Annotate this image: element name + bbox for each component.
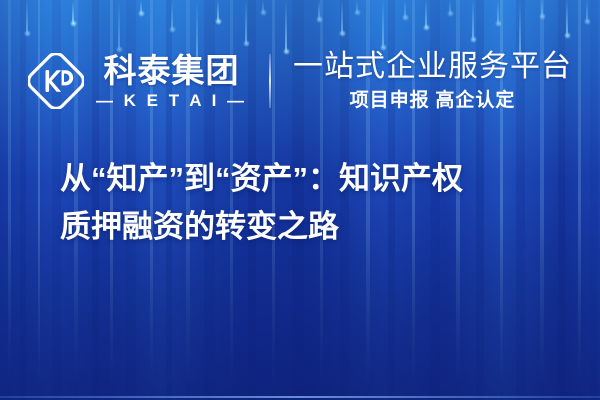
bottom-highlight-line [0, 396, 600, 398]
meteor-icon [26, 0, 28, 34]
article-title: 从“知产”到“资产”：知识产权 质押融资的转变之路 [60, 155, 560, 251]
meteor-icon [356, 0, 358, 13]
brand-wordmark: 科泰集团 — K E T A I — [96, 54, 247, 109]
brand-lockup: 科泰集团 — K E T A I — [28, 53, 247, 109]
meteor-icon [171, 0, 173, 30]
meteor-icon [449, 0, 451, 14]
meteor-icon [217, 0, 219, 22]
meteor-icon [262, 0, 264, 13]
meteor-icon [425, 0, 427, 28]
article-title-line-2: 质押融资的转变之路 [60, 203, 560, 251]
meteor-icon [497, 0, 499, 24]
meteor-icon [140, 0, 142, 14]
banner-header: 科泰集团 — K E T A I — 一站式企业服务平台 项目申报 高企认定 [0, 44, 600, 118]
meteor-icon [541, 0, 543, 17]
meteor-icon [586, 0, 588, 22]
tagline-group: 一站式企业服务平台 项目申报 高企认定 [293, 52, 572, 110]
meteor-icon [472, 0, 474, 40]
tagline-primary: 一站式企业服务平台 [293, 52, 572, 82]
article-title-line-1: 从“知产”到“资产”：知识产权 [60, 155, 560, 203]
brand-name-en: — K E T A I — [96, 92, 247, 109]
meteor-icon [118, 0, 120, 50]
meteor-icon [566, 0, 568, 36]
header-divider [269, 54, 271, 108]
tagline-secondary: 项目申报 高企认定 [350, 91, 516, 110]
meteor-icon [245, 0, 247, 44]
meteor-icon [382, 0, 384, 48]
meteor-icon [404, 0, 406, 18]
meteor-icon [72, 0, 74, 24]
brand-name-cn: 科泰集团 [103, 54, 239, 87]
meteor-icon [318, 0, 320, 20]
meteor-icon [341, 0, 343, 34]
ketai-diamond-logo-icon [28, 53, 84, 109]
promo-banner: 科泰集团 — K E T A I — 一站式企业服务平台 项目申报 高企认定 从… [0, 0, 600, 400]
